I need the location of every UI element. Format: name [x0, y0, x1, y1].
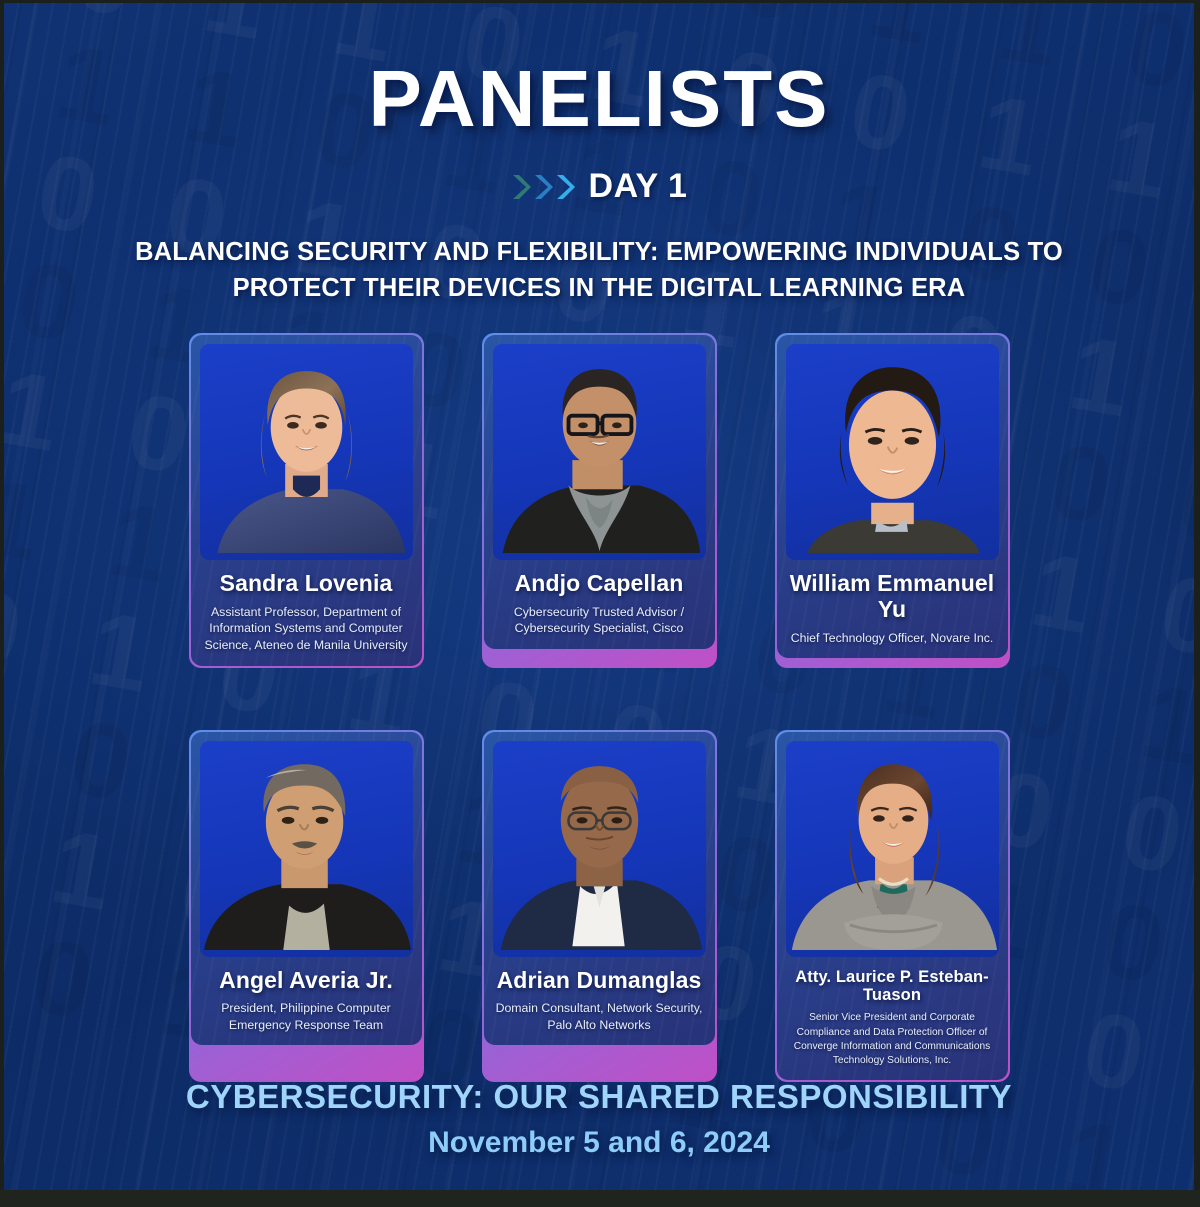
panelist-title: Chief Technology Officer, Novare Inc.	[786, 630, 999, 647]
panelist-card[interactable]: Andjo Capellan Cybersecurity Trusted Adv…	[482, 333, 717, 668]
panelist-title: Senior Vice President and Corporate Comp…	[786, 1011, 999, 1067]
panelist-title: President, Philippine Computer Emergency…	[200, 1000, 413, 1033]
panelist-card-inner: Sandra Lovenia Assistant Professor, Depa…	[191, 335, 422, 666]
panelist-photo-frame	[493, 344, 706, 560]
portrait-angel-averia-jr	[200, 741, 413, 950]
panelist-photo-frame	[493, 741, 706, 957]
panelist-name: Sandra Lovenia	[200, 571, 413, 597]
panelist-card[interactable]: William Emmanuel Yu Chief Technology Off…	[775, 333, 1010, 668]
portrait-adrian-dumanglas	[493, 741, 706, 950]
frame-edge-top	[0, 0, 1200, 3]
panelist-name: Atty. Laurice P. Esteban-Tuason	[786, 968, 999, 1005]
panelist-title: Assistant Professor, Department of Infor…	[200, 604, 413, 654]
panelist-photo-frame	[786, 741, 999, 957]
chevron-right-icon-1	[511, 172, 531, 202]
panelist-card-body: Angel Averia Jr. President, Philippine C…	[200, 957, 413, 1034]
event-theme: CYBERSECURITY: OUR SHARED RESPONSIBILITY	[4, 1078, 1194, 1116]
panelist-card[interactable]: Adrian Dumanglas Domain Consultant, Netw…	[482, 730, 717, 1082]
chevrons-group	[511, 172, 575, 202]
poster-header: PANELISTS DAY 1 BALANCING SECURITY AND F…	[4, 3, 1194, 306]
panelist-card-body: Adrian Dumanglas Domain Consultant, Netw…	[493, 957, 706, 1034]
panelist-card[interactable]: Sandra Lovenia Assistant Professor, Depa…	[189, 333, 424, 668]
panelist-card-inner: Atty. Laurice P. Esteban-Tuason Senior V…	[777, 732, 1008, 1080]
panelist-title: Domain Consultant, Network Security, Pal…	[493, 1000, 706, 1033]
panelist-card-inner: Andjo Capellan Cybersecurity Trusted Adv…	[484, 335, 715, 649]
panelist-photo-frame	[200, 741, 413, 957]
portrait-laurice-esteban-tuason	[786, 741, 999, 950]
panelist-name: Andjo Capellan	[493, 571, 706, 597]
chevron-right-icon-2	[533, 172, 553, 202]
panelist-card-body: Sandra Lovenia Assistant Professor, Depa…	[200, 560, 413, 654]
panelist-card-inner: Adrian Dumanglas Domain Consultant, Netw…	[484, 732, 715, 1046]
panelist-card-body: William Emmanuel Yu Chief Technology Off…	[786, 560, 999, 646]
poster-footer: CYBERSECURITY: OUR SHARED RESPONSIBILITY…	[4, 1078, 1194, 1160]
panelist-name: William Emmanuel Yu	[786, 571, 999, 623]
portrait-sandra-lovenia	[200, 344, 413, 553]
day-indicator-row: DAY 1	[4, 167, 1194, 206]
panelist-name: Angel Averia Jr.	[200, 968, 413, 994]
panelists-poster: 1 0 0 1 0 1 1 0 0 1 0 0 1 1 0 1 0 1 1 0 …	[0, 0, 1200, 1207]
panelists-row-1: Sandra Lovenia Assistant Professor, Depa…	[4, 333, 1194, 668]
frame-edge-right	[1194, 0, 1200, 1207]
event-dates: November 5 and 6, 2024	[4, 1126, 1194, 1160]
portrait-andjo-capellan	[493, 344, 706, 553]
panelists-grid: Sandra Lovenia Assistant Professor, Depa…	[4, 333, 1194, 1082]
chevron-right-icon-3	[555, 172, 575, 202]
portrait-william-emmanuel-yu	[786, 344, 999, 553]
panelist-name: Adrian Dumanglas	[493, 968, 706, 994]
panelist-card-body: Andjo Capellan Cybersecurity Trusted Adv…	[493, 560, 706, 637]
panelist-photo-frame	[786, 344, 999, 560]
panelist-card[interactable]: Atty. Laurice P. Esteban-Tuason Senior V…	[775, 730, 1010, 1082]
panelist-photo-frame	[200, 344, 413, 560]
panelists-row-2: Angel Averia Jr. President, Philippine C…	[4, 730, 1194, 1082]
frame-edge-left	[0, 0, 4, 1207]
session-subtitle: BALANCING SECURITY AND FLEXIBILITY: EMPO…	[119, 234, 1079, 306]
panelist-card-body: Atty. Laurice P. Esteban-Tuason Senior V…	[786, 957, 999, 1068]
panelist-card-inner: William Emmanuel Yu Chief Technology Off…	[777, 335, 1008, 658]
panelist-card[interactable]: Angel Averia Jr. President, Philippine C…	[189, 730, 424, 1082]
panelist-title: Cybersecurity Trusted Advisor / Cybersec…	[493, 604, 706, 637]
frame-edge-bottom	[0, 1190, 1200, 1207]
panelist-card-inner: Angel Averia Jr. President, Philippine C…	[191, 732, 422, 1046]
poster-canvas: 1 0 0 1 0 1 1 0 0 1 0 0 1 1 0 1 0 1 1 0 …	[4, 3, 1194, 1190]
page-title: PANELISTS	[4, 53, 1194, 145]
day-label: DAY 1	[589, 167, 688, 206]
